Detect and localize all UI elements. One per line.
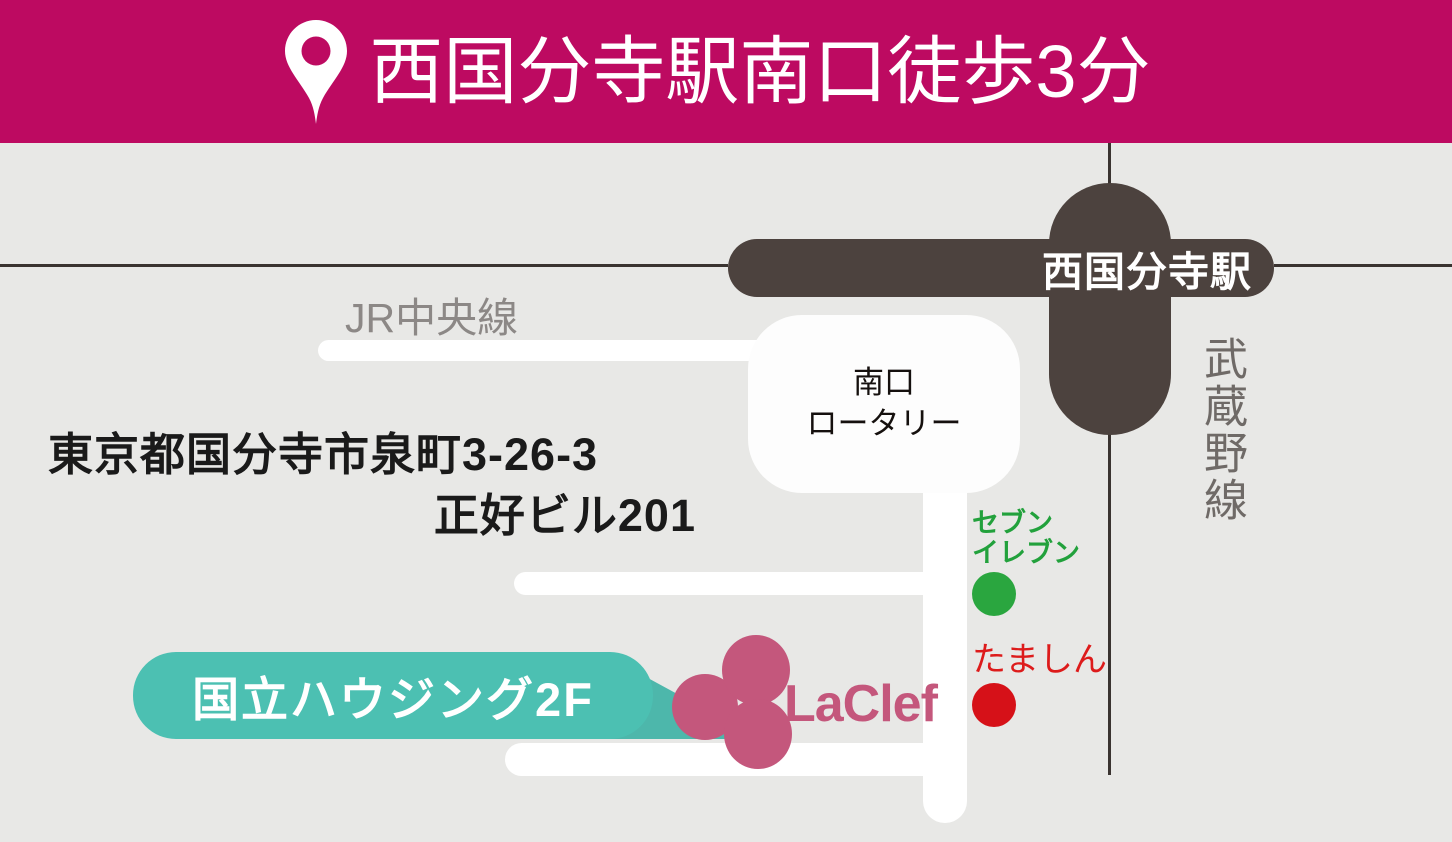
rotary-label-line1: 南口 [853, 364, 915, 403]
road-upper-horizontal [318, 340, 788, 361]
poi-seven-eleven-marker [972, 572, 1016, 616]
poi-seven-eleven-line1: セブン [972, 508, 1080, 538]
station-shape-vertical [1049, 183, 1171, 435]
header-content: 西国分寺駅南口徒歩3分 [285, 20, 1150, 124]
poi-tamashin-label: たましん [972, 641, 1107, 679]
laclef-circle-top [722, 635, 790, 705]
station-label: 西国分寺駅 [728, 239, 1252, 297]
poi-tamashin: たましん [972, 641, 1107, 727]
poi-seven-eleven: セブン イレブン [972, 508, 1080, 616]
rail-line-musashino-top [1108, 143, 1111, 185]
page-title: 西国分寺駅南口徒歩3分 [369, 35, 1150, 109]
header-banner: 西国分寺駅南口徒歩3分 [0, 0, 1452, 143]
rail-label-jr-chuo: JR中央線 [345, 284, 518, 344]
laclef-logo: LaClef [672, 630, 932, 748]
poi-seven-eleven-line2: イレブン [972, 538, 1080, 568]
road-middle-horizontal [514, 572, 954, 595]
map-page: 西国分寺駅南口徒歩3分 JR中央線 武蔵野線 南口 ロータリー 西国分寺 [0, 0, 1452, 842]
callout-label: 国立ハウジング2F [192, 661, 594, 730]
rail-line-chuo-left [0, 264, 728, 267]
poi-tamashin-marker [972, 683, 1016, 727]
rail-label-musashino: 武蔵野線 [1188, 336, 1246, 524]
address-line-2: 正好ビル201 [48, 485, 696, 546]
address-line-1: 東京都国分寺市泉町3-26-3 [48, 424, 696, 485]
rotary-label-line2: ロータリー [807, 405, 962, 444]
poi-seven-eleven-label: セブン イレブン [972, 508, 1080, 568]
laclef-circle-bottom [724, 699, 792, 769]
rail-line-chuo-right [1274, 264, 1452, 267]
callout-office-location: 国立ハウジング2F [133, 652, 653, 739]
laclef-brand-name: LaClef [784, 678, 937, 730]
map-canvas: JR中央線 武蔵野線 南口 ロータリー 西国分寺駅 東京都国分寺市泉町3-26-… [0, 143, 1452, 842]
poi-tamashin-line1: たましん [972, 641, 1107, 679]
rail-line-musashino-bottom [1108, 433, 1111, 775]
address-block: 東京都国分寺市泉町3-26-3 正好ビル201 [48, 424, 696, 546]
map-pin-icon [285, 20, 347, 124]
rotary-label: 南口 ロータリー [748, 315, 1020, 493]
